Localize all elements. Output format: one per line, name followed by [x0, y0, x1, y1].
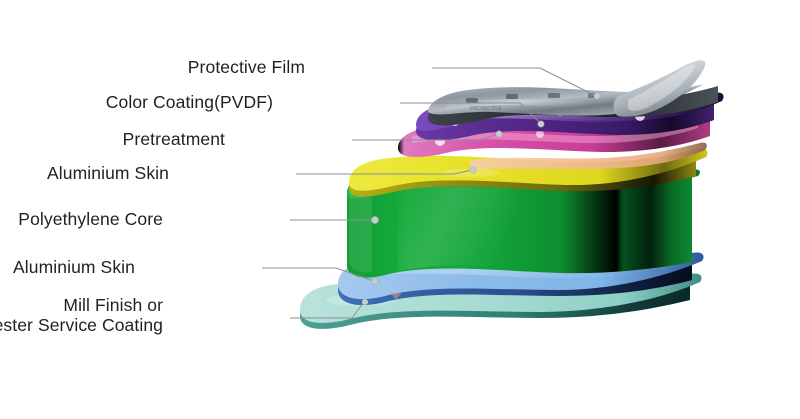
- label-mill-finish-line1: Mill Finish or: [0, 296, 163, 316]
- leader-dot-mill-finish-coating: [362, 299, 368, 305]
- leader-dot-aluminium-skin-bottom: [372, 278, 378, 284]
- label-pretreatment: Pretreatment: [123, 130, 225, 150]
- leader-dot-color-coating-pvdf: [538, 121, 544, 127]
- leader-dot-polyethylene-core: [371, 216, 378, 223]
- label-mill-finish-line2: Polyester Service Coating: [0, 316, 163, 336]
- label-mill-finish-coating: Mill Finish or Polyester Service Coating: [0, 296, 163, 335]
- label-color-coating-pvdf: Color Coating(PVDF): [106, 93, 273, 113]
- svg-text:PROTECTIVE: PROTECTIVE: [470, 106, 503, 112]
- label-aluminium-skin-bottom: Aluminium Skin: [13, 258, 135, 278]
- leader-dot-aluminium-skin-top: [470, 167, 476, 173]
- leader-dot-protective-film: [594, 93, 600, 99]
- label-protective-film: Protective Film: [188, 58, 305, 78]
- label-polyethylene-core: Polyethylene Core: [18, 210, 163, 230]
- leader-dot-pretreatment: [496, 131, 502, 137]
- diagram-canvas: PROTECTIVE Protective Film Color Coating…: [0, 0, 800, 419]
- label-aluminium-skin-top: Aluminium Skin: [47, 164, 169, 184]
